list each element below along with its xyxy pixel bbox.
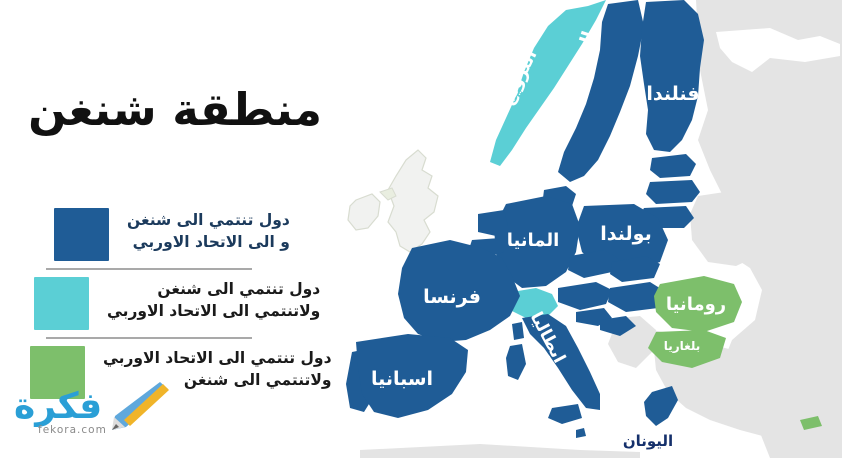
schengen-infographic: النرويج السويد فنلندا بولندا المانيا فرن… xyxy=(0,0,842,458)
watermark-domain: fekora.com xyxy=(38,424,107,436)
legend-swatch-schengen-eu xyxy=(54,208,109,261)
map-label-bulgaria: بلغاريا xyxy=(664,339,701,353)
legend-line-1: دول تنتمي الى الاتحاد الاوربي xyxy=(103,349,332,367)
map-label-germany: المانيا xyxy=(507,230,560,251)
legend-line-1: دول تنتمي الى شنغن xyxy=(157,280,320,298)
legend-line-2: و الى الاتحاد الاوربي xyxy=(133,233,290,251)
legend: دول تنتمي الى شنغن و الى الاتحاد الاوربي… xyxy=(0,208,340,399)
europe-map: النرويج السويد فنلندا بولندا المانيا فرن… xyxy=(300,0,842,458)
map-label-romania: رومانيا xyxy=(666,294,726,315)
page-title: منطقة شنغن xyxy=(22,86,322,133)
corsica xyxy=(512,322,524,340)
map-label-finland: فنلندا xyxy=(646,83,699,105)
legend-label-schengen-eu: دول تنتمي الى شنغن و الى الاتحاد الاوربي xyxy=(127,208,290,253)
legend-item-schengen-eu[interactable]: دول تنتمي الى شنغن و الى الاتحاد الاوربي xyxy=(0,208,340,261)
legend-swatch-eu-non-schengen xyxy=(30,346,85,399)
legend-divider-1 xyxy=(46,268,252,270)
map-svg: النرويج السويد فنلندا بولندا المانيا فرن… xyxy=(300,0,842,458)
map-label-france: فرنسا xyxy=(423,286,481,308)
left-panel: منطقة شنغن دول تنتمي الى شنغن و الى الات… xyxy=(0,0,340,458)
legend-label-schengen-non-eu: دول تنتمي الى شنغن ولاتنتمي الى الاتحاد … xyxy=(107,277,320,322)
legend-line-2: ولاتنتمي الى الاتحاد الاوربي xyxy=(107,302,320,320)
map-label-greece: اليونان xyxy=(623,432,673,450)
legend-swatch-schengen-non-eu xyxy=(34,277,89,330)
legend-line-2: ولاتنتمي الى شنغن xyxy=(184,371,332,389)
legend-line-1: دول تنتمي الى شنغن xyxy=(127,211,290,229)
legend-label-eu-non-schengen: دول تنتمي الى الاتحاد الاوربي ولاتنتمي ا… xyxy=(103,346,332,391)
map-label-spain: اسبانيا xyxy=(371,368,433,390)
legend-item-eu-non-schengen[interactable]: دول تنتمي الى الاتحاد الاوربي ولاتنتمي ا… xyxy=(0,346,340,399)
legend-divider-2 xyxy=(46,337,252,339)
map-label-poland: بولندا xyxy=(600,223,651,245)
latvia xyxy=(646,180,700,204)
legend-item-schengen-non-eu[interactable]: دول تنتمي الى شنغن ولاتنتمي الى الاتحاد … xyxy=(0,277,340,330)
estonia xyxy=(650,154,696,178)
